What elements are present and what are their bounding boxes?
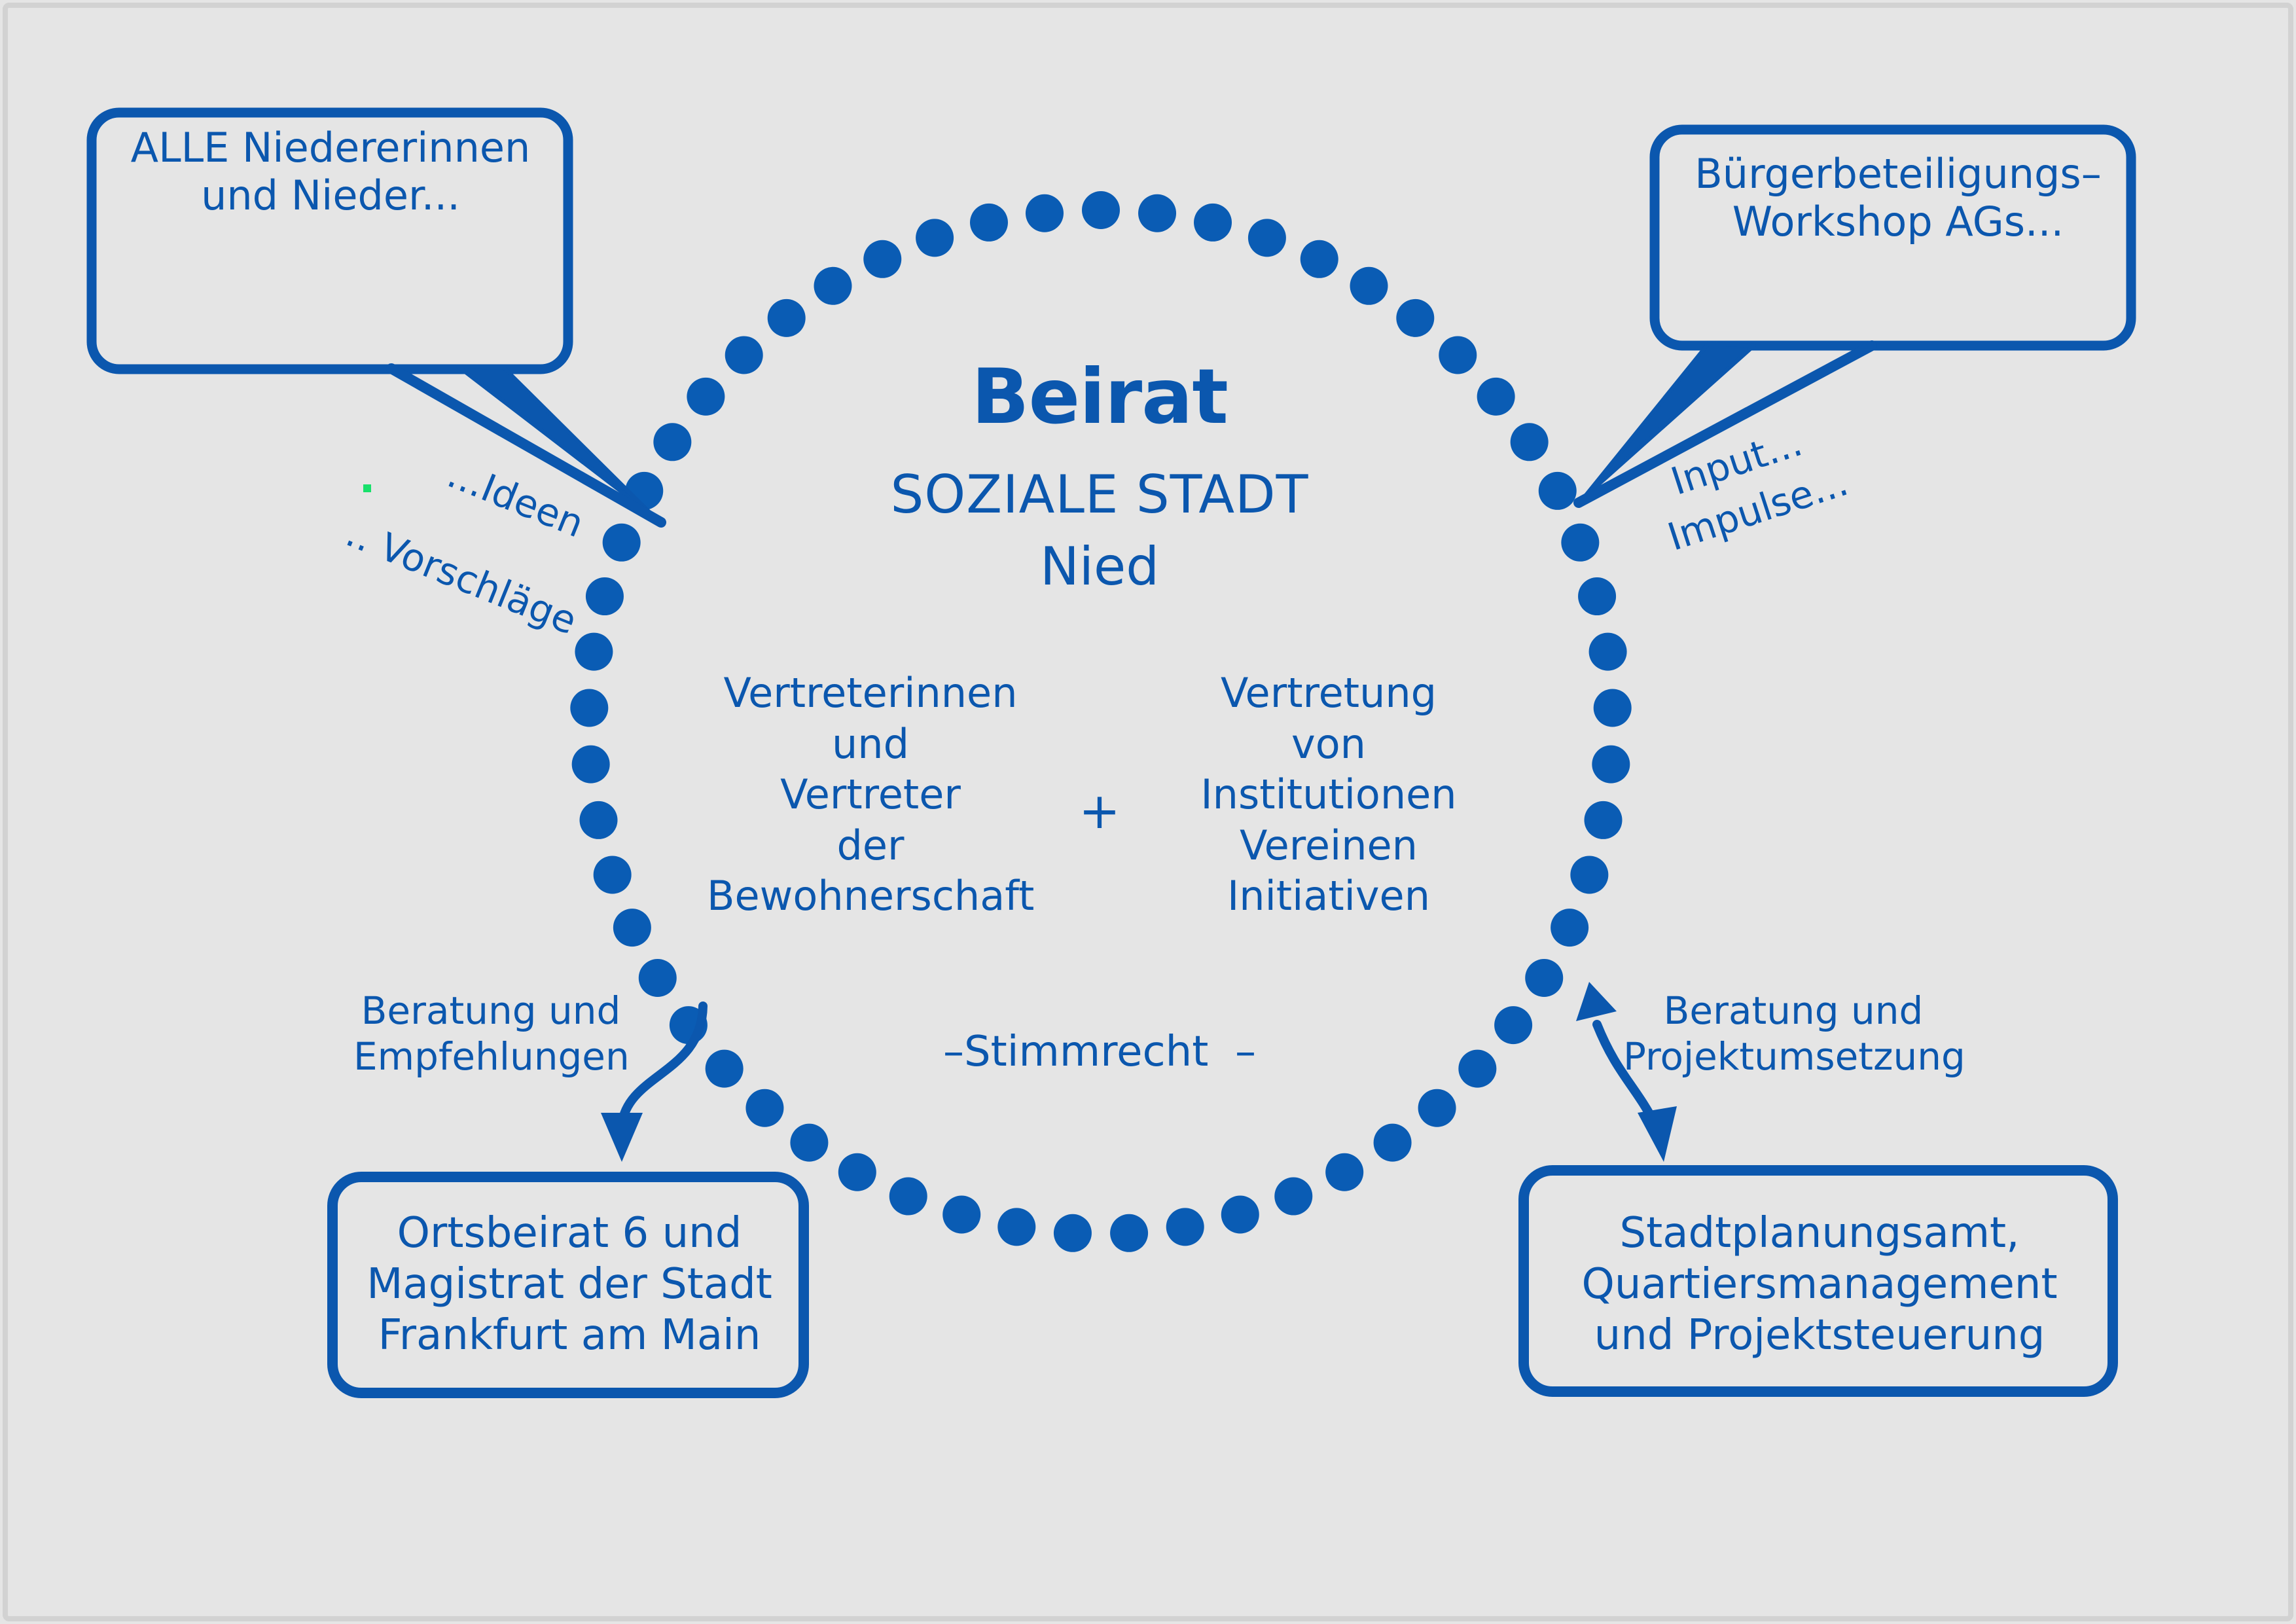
ring-dot <box>790 1124 828 1162</box>
ring-dot <box>687 378 725 416</box>
green-speck-artifact <box>363 484 371 492</box>
page-title: Beirat <box>785 353 1414 442</box>
ring-dot <box>768 299 806 337</box>
arrow-caption-left: Beratung und Empfehlungen <box>353 988 628 1079</box>
voting-rights-note: –Stimmrecht – <box>903 1028 1296 1076</box>
ring-dot <box>586 577 624 615</box>
ring-dot <box>594 856 632 893</box>
ring-dot <box>1570 856 1608 893</box>
diagram-canvas: ALLE Niedererinnen und Nieder... Bürgerb… <box>0 0 2296 1624</box>
ring-dot <box>745 1089 783 1127</box>
ring-dot <box>863 240 901 278</box>
ring-dot <box>1325 1153 1363 1191</box>
ring-dot <box>1551 909 1588 947</box>
ring-dot <box>1138 194 1176 232</box>
ring-dot <box>580 801 618 839</box>
ring-dot <box>653 423 691 461</box>
ring-dot <box>706 1050 744 1088</box>
ring-dot <box>1589 633 1627 671</box>
ring-dot <box>1396 299 1434 337</box>
ring-dot <box>1477 378 1515 416</box>
ring-dot <box>970 204 1008 242</box>
ring-dot <box>1494 1006 1532 1044</box>
ring-dot <box>1026 194 1064 232</box>
ring-dot <box>889 1178 927 1216</box>
ring-dot <box>1248 219 1286 257</box>
ring-dot <box>725 336 763 374</box>
ring-dot <box>639 959 677 997</box>
ring-dot <box>916 219 954 257</box>
ring-dot <box>1274 1178 1312 1216</box>
ring-dot <box>1525 959 1563 997</box>
ring-dot <box>1374 1124 1412 1162</box>
ring-dot <box>570 689 608 727</box>
ring-dot <box>1585 801 1623 839</box>
ring-dot <box>1458 1050 1496 1088</box>
ring-dot <box>1592 746 1630 784</box>
ring-dot <box>1082 191 1120 229</box>
ring-dot <box>572 746 610 784</box>
ring-dot <box>1054 1214 1092 1252</box>
ring-dot <box>1110 1214 1148 1252</box>
ring-dot <box>1594 689 1632 727</box>
members-column-residents: Vertreterinnen und Vertreter der Bewohne… <box>707 668 1034 922</box>
ring-dot <box>1561 524 1599 562</box>
plus-icon: + <box>1060 782 1139 840</box>
center-subtitle-line1: SOZIALE STADT <box>785 465 1414 526</box>
ring-dot <box>1418 1089 1456 1127</box>
ring-dot <box>942 1195 980 1233</box>
page-frame <box>5 5 2291 1619</box>
ring-dot <box>1221 1195 1259 1233</box>
ring-dot <box>997 1208 1035 1246</box>
ring-dot <box>1350 267 1388 305</box>
ring-dot <box>1166 1208 1204 1246</box>
ring-dot <box>1539 472 1577 510</box>
ring-dot <box>838 1153 876 1191</box>
ring-dot <box>613 909 651 947</box>
arrow-caption-right: Beratung und Projektumsetzung <box>1623 988 1964 1079</box>
ring-dot <box>1300 240 1338 278</box>
box-stadtplanungsamt-label: Stadtplanungsamt, Quartiersmanagement un… <box>1532 1208 2108 1361</box>
ring-dot <box>1439 336 1477 374</box>
center-subtitle-line2: Nied <box>785 537 1414 598</box>
members-column-institutions: Vertretung von Institutionen Vereinen In… <box>1165 668 1492 922</box>
ring-dot <box>603 524 641 562</box>
ring-dot <box>1511 423 1549 461</box>
ring-dot <box>1578 577 1616 615</box>
ring-dot <box>814 267 852 305</box>
speech-bubble-left-label: ALLE Niedererinnen und Nieder... <box>92 124 569 219</box>
speech-bubble-right-label: Bürgerbeteiligungs– Workshop AGs... <box>1656 151 2140 245</box>
box-ortsbeirat-label: Ortsbeirat 6 und Magistrat der Stadt Fra… <box>340 1208 798 1361</box>
ring-dot <box>575 633 613 671</box>
ring-dot <box>1194 204 1232 242</box>
